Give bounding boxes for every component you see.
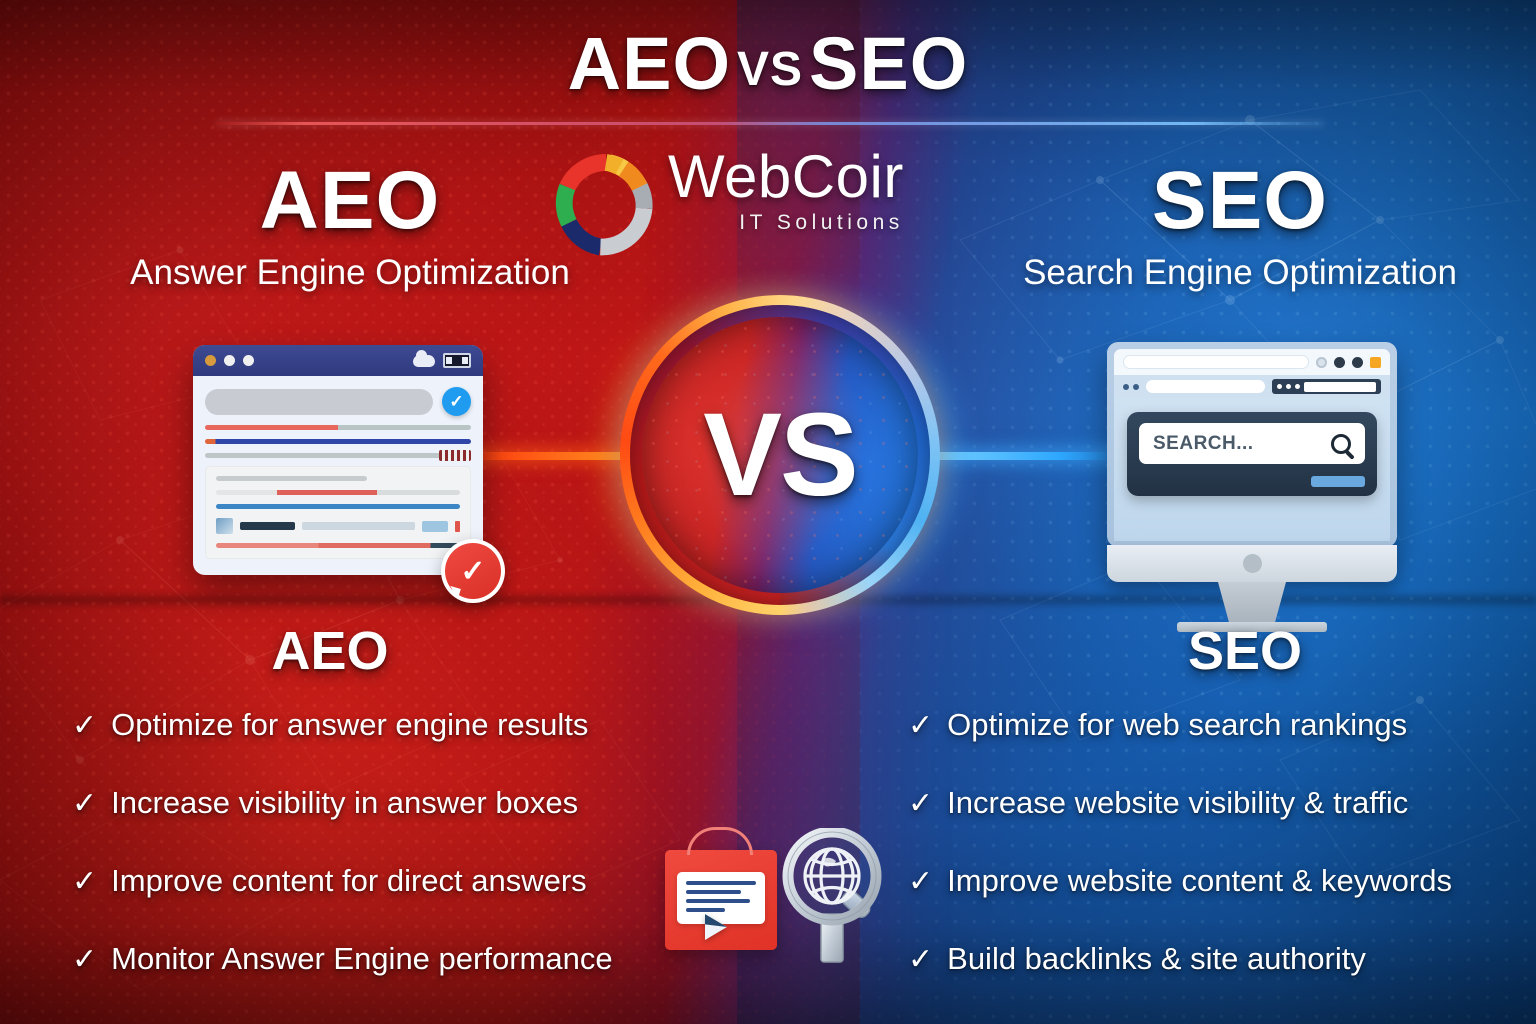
list-item-label: Monitor Answer Engine performance	[111, 940, 612, 977]
list-item: ✓ Optimize for answer engine results	[72, 706, 613, 744]
list-item-label: Optimize for web search rankings	[947, 706, 1407, 743]
search-magnifier-icon[interactable]	[1331, 434, 1351, 454]
bag-card-line-2	[686, 890, 741, 894]
brand-tagline: IT Solutions	[668, 211, 904, 235]
monitor-viewport: SEARCH...	[1114, 398, 1390, 541]
panel-thumbnail	[216, 518, 233, 534]
browser-bar-right-icons	[413, 353, 471, 368]
panel-chip-dark	[240, 522, 295, 530]
panel-chip-light	[302, 522, 415, 530]
answer-panel	[205, 466, 471, 559]
bag-card-line-4	[686, 908, 725, 912]
monitor-toolbar-field	[1146, 380, 1265, 393]
monitor-url-bar	[1123, 355, 1309, 369]
globe-magnifier-icon	[780, 828, 885, 968]
verified-check-icon: ✓	[442, 387, 471, 416]
monitor-dot-dark-1	[1334, 357, 1345, 368]
check-icon: ✓	[72, 864, 97, 900]
seo-desktop-monitor: SEARCH...	[1107, 342, 1397, 600]
aeo-browser-window: ✓ ✓	[193, 345, 483, 575]
panel-media-row	[216, 518, 460, 534]
search-card: SEARCH...	[1127, 412, 1377, 496]
brand-logo-text: WebCoir IT Solutions	[668, 147, 904, 235]
panel-line-2	[216, 490, 460, 495]
content-line-2	[205, 439, 471, 444]
monitor-browser-topbar	[1114, 349, 1390, 375]
list-item-label: Improve website content & keywords	[947, 862, 1452, 899]
title-divider-rule	[216, 122, 1324, 125]
aeo-benefit-list: ✓ Optimize for answer engine results ✓ I…	[72, 706, 613, 1018]
check-icon: ✓	[72, 786, 97, 822]
content-line-1	[205, 425, 471, 430]
panel-chip-red	[455, 521, 460, 532]
browser-dot-white-1	[224, 355, 235, 366]
monitor-chip-field	[1304, 382, 1376, 392]
versus-face: VS	[642, 317, 918, 593]
check-icon: ✓	[908, 942, 933, 978]
answer-check-icon: ✓	[445, 543, 501, 599]
browser-content: ✓	[193, 376, 483, 571]
aeo-list-title: AEO	[150, 620, 510, 682]
monitor-navy-toolbar-chip	[1272, 379, 1381, 394]
seo-heading-block: SEO Search Engine Optimization	[945, 160, 1535, 293]
browser-title-bar	[193, 345, 483, 376]
segmented-ring-logo-icon	[548, 149, 664, 261]
list-item-label: Optimize for answer engine results	[111, 706, 588, 743]
seo-benefit-list: ✓ Optimize for web search rankings ✓ Inc…	[908, 706, 1452, 1018]
monitor-toolbar-row	[1114, 375, 1390, 398]
check-icon: ✓	[908, 786, 933, 822]
monitor-refresh-icon	[1316, 357, 1327, 368]
monitor-power-button	[1243, 554, 1262, 573]
cursor-arrow-icon	[705, 914, 727, 940]
list-item: ✓ Improve content for direct answers	[72, 862, 613, 900]
window-split-icon	[443, 353, 471, 368]
monitor-stand-neck	[1218, 582, 1286, 622]
list-item-label: Build backlinks & site authority	[947, 940, 1366, 977]
content-line-3	[205, 453, 471, 458]
check-icon: ✓	[908, 708, 933, 744]
browser-dot-amber	[205, 355, 216, 366]
seo-abbreviation: SEO	[945, 160, 1535, 242]
list-item-label: Increase website visibility & traffic	[947, 784, 1408, 821]
browser-dot-white-2	[243, 355, 254, 366]
shopping-bag-icon	[665, 850, 777, 950]
page-title: AEOVSSEO	[0, 24, 1536, 104]
list-item: ✓ Monitor Answer Engine performance	[72, 940, 613, 978]
check-icon: ✓	[72, 708, 97, 744]
search-input[interactable]: SEARCH...	[1139, 423, 1365, 464]
page-title-seo: SEO	[809, 22, 968, 105]
list-item: ✓ Improve website content & keywords	[908, 862, 1452, 900]
list-item: ✓ Increase visibility in answer boxes	[72, 784, 613, 822]
infographic-canvas: AEOVSSEO AEO Answer Engine Optimization …	[0, 0, 1536, 1024]
monitor-chin	[1107, 545, 1397, 582]
list-item: ✓ Optimize for web search rankings	[908, 706, 1452, 744]
brand-logo: WebCoir IT Solutions	[548, 143, 978, 268]
search-submit-button[interactable]	[1311, 476, 1365, 487]
answer-check-bubble: ✓	[441, 539, 505, 603]
search-placeholder-text: SEARCH...	[1153, 433, 1254, 455]
monitor-dot-dark-2	[1352, 357, 1363, 368]
page-title-vs: VS	[731, 43, 809, 96]
list-item-label: Increase visibility in answer boxes	[111, 784, 578, 821]
panel-chip-blue	[422, 521, 448, 532]
panel-line-4	[216, 543, 460, 548]
page-title-aeo: AEO	[568, 22, 731, 105]
monitor-mini-dots	[1123, 384, 1139, 390]
cloud-icon	[413, 355, 435, 367]
list-item: ✓ Build backlinks & site authority	[908, 940, 1452, 978]
browser-url-bar	[205, 389, 433, 415]
bag-card-line-3	[686, 899, 750, 903]
bottom-icon-group	[655, 820, 895, 970]
list-item: ✓ Increase website visibility & traffic	[908, 784, 1452, 822]
bag-card-line-1	[686, 881, 756, 885]
list-item-label: Improve content for direct answers	[111, 862, 587, 899]
panel-line-1	[216, 476, 367, 481]
check-icon: ✓	[72, 942, 97, 978]
brand-name: WebCoir	[668, 147, 904, 207]
versus-badge: VS	[620, 295, 940, 615]
seo-list-title: SEO	[1065, 620, 1425, 682]
browser-url-row: ✓	[205, 387, 471, 416]
check-icon: ✓	[908, 864, 933, 900]
versus-label: VS	[703, 387, 856, 523]
monitor-dot-orange	[1370, 357, 1381, 368]
seo-full-name: Search Engine Optimization	[945, 254, 1535, 293]
bag-handle	[687, 827, 753, 855]
monitor-screen: SEARCH...	[1107, 342, 1397, 547]
panel-line-3	[216, 504, 460, 509]
